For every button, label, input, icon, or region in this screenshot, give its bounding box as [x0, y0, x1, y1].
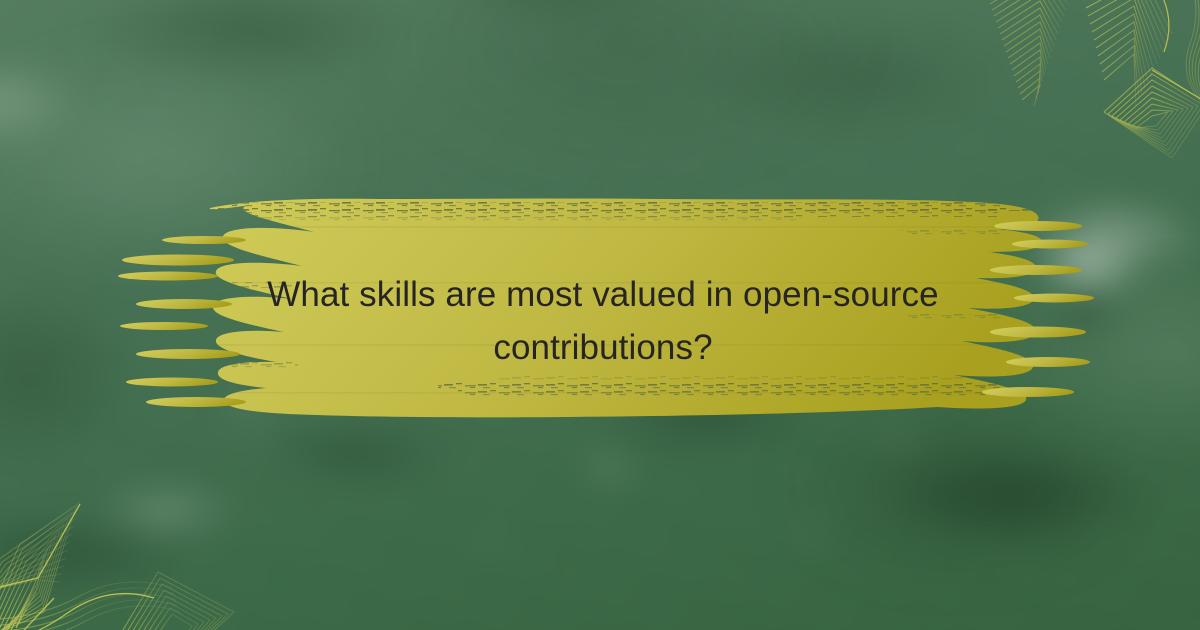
- question-card: What skills are most valued in open-sour…: [0, 0, 1200, 630]
- page-title: What skills are most valued in open-sour…: [190, 268, 1016, 374]
